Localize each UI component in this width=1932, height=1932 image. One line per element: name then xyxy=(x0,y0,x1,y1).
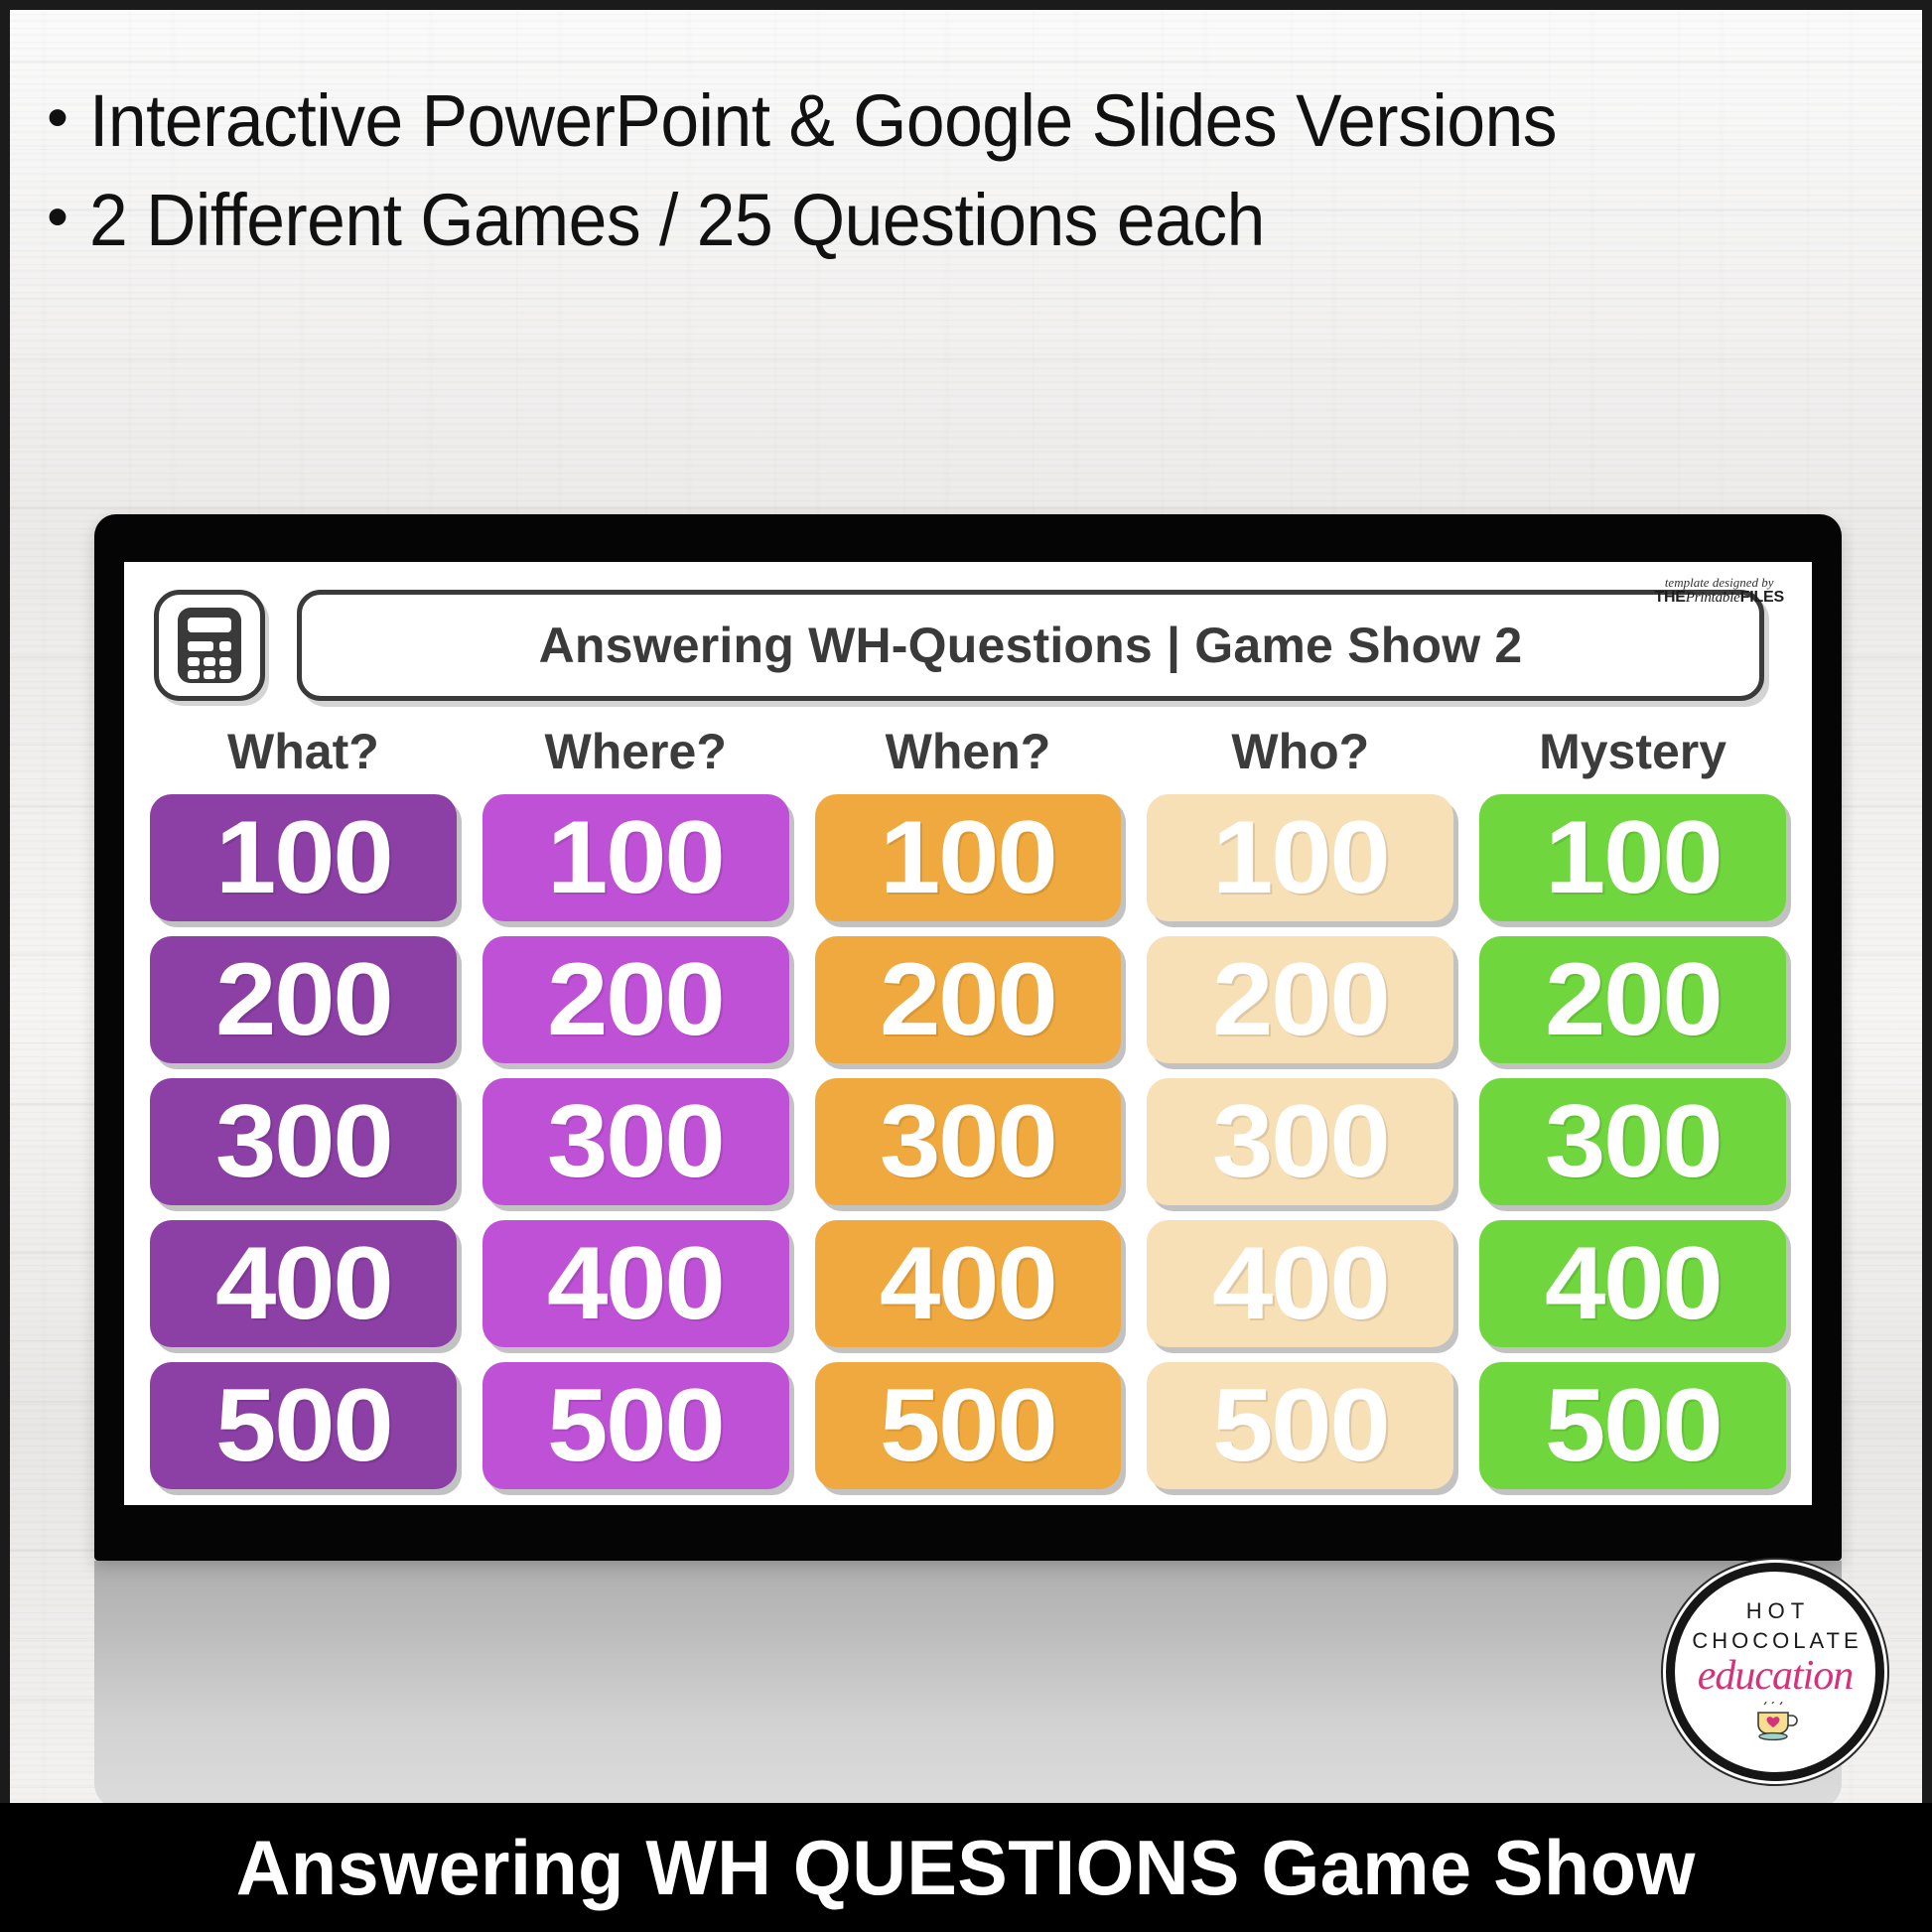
board-tile[interactable]: 400 xyxy=(1479,1220,1786,1347)
board-tile[interactable]: 400 xyxy=(815,1220,1122,1347)
board-tile[interactable]: 400 xyxy=(1147,1220,1453,1347)
monitor-mockup: Answering WH-Questions | Game Show 2 tem… xyxy=(94,514,1842,1904)
board-tile[interactable]: 300 xyxy=(150,1078,457,1205)
feature-bullet-item: • Interactive PowerPoint & Google Slides… xyxy=(26,77,1833,165)
tile-value: 100 xyxy=(1545,806,1722,909)
board-tile[interactable]: 200 xyxy=(1479,936,1786,1063)
logo-line-2: CHOCOLATE xyxy=(1688,1628,1862,1654)
board-tile[interactable]: 300 xyxy=(815,1078,1122,1205)
credit-prefix: THE xyxy=(1654,589,1685,606)
board-tile[interactable]: 100 xyxy=(150,794,457,921)
board-tile[interactable]: 500 xyxy=(1147,1362,1453,1489)
left-edge-strip xyxy=(0,0,10,1932)
credit-suffix: FILES xyxy=(1740,589,1784,606)
bullet-dot-icon: • xyxy=(26,177,89,258)
slide-title-pill[interactable]: Answering WH-Questions | Game Show 2 xyxy=(297,590,1764,701)
tile-value: 300 xyxy=(1212,1090,1389,1193)
brand-logo: HOT CHOCOLATE education xyxy=(1666,1563,1884,1781)
category-header-where: Where? xyxy=(483,723,789,794)
board-tile[interactable]: 300 xyxy=(1147,1078,1453,1205)
tile-value: 400 xyxy=(547,1232,724,1335)
category-header-who: Who? xyxy=(1147,723,1453,794)
logo-line-1: HOT xyxy=(1740,1598,1810,1624)
tile-value: 400 xyxy=(1212,1232,1389,1335)
tile-value: 300 xyxy=(1545,1090,1722,1193)
calculator-icon[interactable] xyxy=(154,590,265,701)
tile-value: 400 xyxy=(1545,1232,1722,1335)
tile-value: 500 xyxy=(1545,1374,1722,1477)
board-tile[interactable]: 400 xyxy=(483,1220,789,1347)
board-tile[interactable]: 200 xyxy=(150,936,457,1063)
cup-glyph xyxy=(1748,1702,1802,1741)
bottom-banner: Answering WH QUESTIONS Game Show xyxy=(0,1803,1932,1932)
tile-value: 300 xyxy=(215,1090,392,1193)
board-tile[interactable]: 200 xyxy=(483,936,789,1063)
right-edge-strip xyxy=(1922,0,1932,1932)
page-title: Answering WH-Questions | Game Show 2 xyxy=(539,617,1523,674)
category-header-when: When? xyxy=(815,723,1122,794)
top-edge-strip xyxy=(0,0,1932,10)
feature-bullet-list: • Interactive PowerPoint & Google Slides… xyxy=(26,77,1833,276)
board-tile[interactable]: 500 xyxy=(483,1362,789,1489)
tile-value: 400 xyxy=(215,1232,392,1335)
board-tile[interactable]: 300 xyxy=(1479,1078,1786,1205)
board-tile[interactable]: 100 xyxy=(1147,794,1453,921)
feature-bullet-item: • 2 Different Games / 25 Questions each xyxy=(26,177,1833,264)
tile-value: 200 xyxy=(1212,948,1389,1051)
tile-value: 100 xyxy=(1212,806,1389,909)
game-board: What? Where? When? Who? Mystery 100 100 … xyxy=(146,723,1790,1504)
tile-value: 500 xyxy=(215,1374,392,1477)
board-tile[interactable]: 500 xyxy=(815,1362,1122,1489)
board-tile[interactable]: 200 xyxy=(1147,936,1453,1063)
banner-title: Answering WH QUESTIONS Game Show xyxy=(236,1823,1696,1913)
board-tile[interactable]: 100 xyxy=(815,794,1122,921)
credit-line-1: template designed by xyxy=(1654,576,1784,590)
board-tile[interactable]: 500 xyxy=(1479,1362,1786,1489)
tile-value: 200 xyxy=(215,948,392,1051)
category-header-what: What? xyxy=(150,723,457,794)
monitor-bezel: Answering WH-Questions | Game Show 2 tem… xyxy=(94,514,1842,1561)
slide-header: Answering WH-Questions | Game Show 2 tem… xyxy=(146,580,1790,707)
tile-value: 400 xyxy=(880,1232,1056,1335)
credit-line-2: THEPrintableFILES xyxy=(1654,590,1784,607)
calculator-glyph xyxy=(174,605,245,686)
bullet-dot-icon: • xyxy=(26,77,89,159)
product-cover-page: • Interactive PowerPoint & Google Slides… xyxy=(0,0,1932,1932)
feature-bullet-text: 2 Different Games / 25 Questions each xyxy=(89,177,1265,264)
board-tile[interactable]: 200 xyxy=(815,936,1122,1063)
template-credit: template designed by THEPrintableFILES xyxy=(1654,576,1784,606)
tile-value: 500 xyxy=(547,1374,724,1477)
tile-value: 500 xyxy=(880,1374,1056,1477)
board-tile[interactable]: 100 xyxy=(1479,794,1786,921)
tile-value: 300 xyxy=(547,1090,724,1193)
tile-value: 100 xyxy=(215,806,392,909)
tile-value: 300 xyxy=(880,1090,1056,1193)
tile-value: 200 xyxy=(547,948,724,1051)
tile-value: 100 xyxy=(880,806,1056,909)
tile-value: 200 xyxy=(880,948,1056,1051)
logo-line-3: education xyxy=(1698,1652,1854,1700)
feature-bullet-text: Interactive PowerPoint & Google Slides V… xyxy=(89,77,1557,165)
credit-script: Printable xyxy=(1686,590,1740,606)
tile-value: 500 xyxy=(1212,1374,1389,1477)
slide-screen: Answering WH-Questions | Game Show 2 tem… xyxy=(124,562,1812,1505)
monitor-lower-body xyxy=(94,1561,1842,1809)
board-tile[interactable]: 100 xyxy=(483,794,789,921)
tile-value: 200 xyxy=(1545,948,1722,1051)
board-tile[interactable]: 400 xyxy=(150,1220,457,1347)
board-tile[interactable]: 500 xyxy=(150,1362,457,1489)
hot-chocolate-cup-icon xyxy=(1748,1702,1802,1746)
board-tile[interactable]: 300 xyxy=(483,1078,789,1205)
category-header-mystery: Mystery xyxy=(1479,723,1786,794)
tile-value: 100 xyxy=(547,806,724,909)
